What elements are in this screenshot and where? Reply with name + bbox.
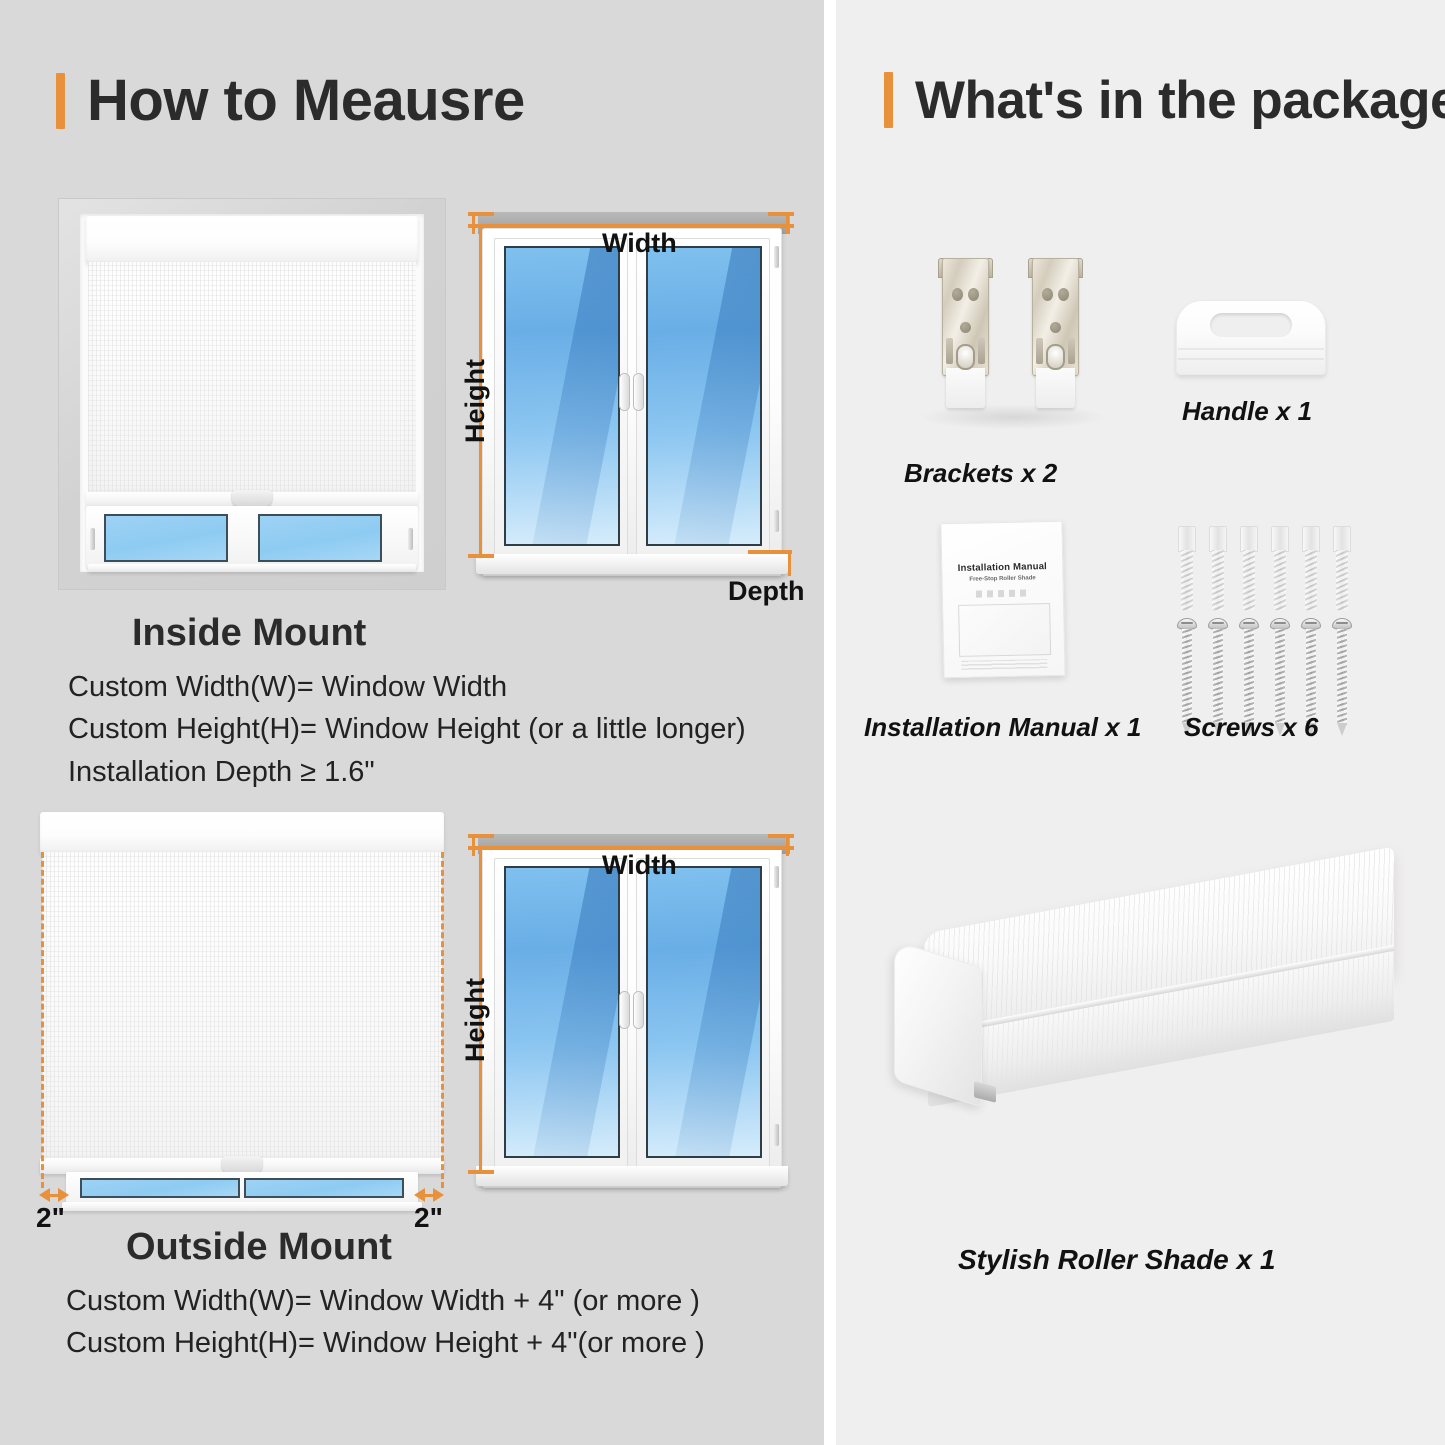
roller-shade-label: Stylish Roller Shade x 1 xyxy=(958,1244,1275,1276)
infographic-page: How to Meausre xyxy=(0,0,1445,1445)
outside-shade-pull-tab xyxy=(222,1156,262,1173)
window-glass-right xyxy=(646,246,762,546)
handle-ridge xyxy=(1178,348,1324,350)
screw-icon xyxy=(1332,618,1352,736)
roller-shade-end-cap xyxy=(894,941,982,1108)
height-label: Height xyxy=(460,359,491,443)
bracket-keyhole xyxy=(1046,344,1065,370)
screw-shank xyxy=(1182,629,1192,725)
screw-shank xyxy=(1244,629,1254,725)
arrow-right-head xyxy=(58,1188,69,1202)
manual-cover-scribble xyxy=(976,589,1030,597)
width-dim-cap-right xyxy=(768,212,794,216)
window-sill xyxy=(476,1166,788,1186)
width-dim-tick-left xyxy=(472,834,475,856)
manual-cover-title: Installation Manual xyxy=(941,561,1063,575)
wall-anchor-icon xyxy=(1300,526,1322,612)
depth-label: Depth xyxy=(728,576,805,607)
inside-mount-shade-illustration xyxy=(58,198,446,590)
manual-cover-footer xyxy=(961,659,1047,670)
screw-slot xyxy=(1274,622,1286,624)
outside-glass-right xyxy=(244,1178,404,1198)
shade-fabric xyxy=(88,262,416,496)
screws-label: Screws x 6 xyxy=(1184,712,1318,743)
wall-anchor-icon xyxy=(1238,526,1260,612)
window-handle-left-icon xyxy=(620,992,629,1028)
window-glass-left xyxy=(504,246,620,546)
screw-shank xyxy=(1337,629,1347,725)
bracket-hole xyxy=(952,288,963,301)
height-dim-cap-bottom xyxy=(468,554,494,558)
outside-mount-shade-illustration: 2" 2" xyxy=(22,806,452,1216)
bracket-slot xyxy=(946,338,953,364)
window-handle-left-icon xyxy=(620,374,629,410)
anchor-shaft xyxy=(1274,550,1286,612)
overhang-guide-right xyxy=(441,852,444,1188)
window-sill-inside xyxy=(88,564,416,572)
package-heading: What's in the package xyxy=(884,72,1445,128)
depth-dim-cap xyxy=(748,550,792,554)
anchor-shaft xyxy=(1336,550,1348,612)
manual-label: Installation Manual x 1 xyxy=(864,712,1141,743)
inside-mount-measure-diagram: Width Height Depth xyxy=(452,198,824,598)
anchor-shaft xyxy=(1212,550,1224,612)
anchor-shaft xyxy=(1305,550,1317,612)
heading-text: What's in the package xyxy=(915,74,1445,127)
screw-shank xyxy=(1275,629,1285,725)
height-dim-cap-bottom xyxy=(468,1170,494,1174)
handle-label: Handle x 1 xyxy=(1182,396,1312,427)
screw-slot xyxy=(1243,622,1255,624)
overhang-arrow-left xyxy=(39,1188,69,1202)
bracket-hole xyxy=(1058,288,1069,301)
anchor-collar xyxy=(1271,526,1289,552)
screw-shank xyxy=(1306,629,1316,725)
bracket-tongue xyxy=(946,368,985,408)
accent-bar-icon xyxy=(56,73,65,129)
bracket-tongue xyxy=(1036,368,1075,408)
outside-mount-text: Custom Width(W)= Window Width + 4" (or m… xyxy=(66,1284,705,1369)
window-hinge-left-icon xyxy=(90,528,95,550)
depth-dim-tick xyxy=(788,550,791,576)
outside-mount-line-2: Custom Height(H)= Window Height + 4"(or … xyxy=(66,1326,705,1361)
wall-anchor-icon xyxy=(1269,526,1291,612)
width-label: Width xyxy=(602,850,677,881)
width-dim-cap-right xyxy=(768,834,794,838)
height-label: Height xyxy=(460,978,491,1062)
screw-shank xyxy=(1213,629,1223,725)
outside-shade-valance xyxy=(40,812,444,854)
how-to-measure-heading: How to Meausre xyxy=(56,72,525,130)
outside-window-sill xyxy=(62,1202,422,1211)
shade-valance xyxy=(86,216,418,264)
how-to-measure-panel: How to Meausre xyxy=(0,0,824,1445)
screw-slot xyxy=(1181,622,1193,624)
wall-anchor-icon xyxy=(1207,526,1229,612)
bracket-slot xyxy=(1068,338,1075,364)
manual-icon: Installation Manual Free-Stop Roller Sha… xyxy=(940,521,1065,679)
screw-slot xyxy=(1212,622,1224,624)
window-sill xyxy=(476,554,788,574)
wall-anchor-icon xyxy=(1176,526,1198,612)
bracket-icon xyxy=(938,258,993,408)
heading-text: How to Meausre xyxy=(87,72,525,130)
inside-mount-line-3: Installation Depth ≥ 1.6" xyxy=(68,755,746,790)
anchor-collar xyxy=(1209,526,1227,552)
window-handle-right-icon xyxy=(634,992,643,1028)
bracket-keyhole xyxy=(956,344,975,370)
bracket-hole xyxy=(1050,322,1061,333)
bracket-hole xyxy=(968,288,979,301)
screw-slot xyxy=(1336,622,1348,624)
bracket-hole xyxy=(1042,288,1053,301)
anchor-shaft xyxy=(1181,550,1193,612)
outside-mount-measure-diagram: Width Height xyxy=(452,822,824,1214)
bracket-slot xyxy=(978,338,985,364)
anchor-collar xyxy=(1178,526,1196,552)
outside-mount-line-1: Custom Width(W)= Window Width + 4" (or m… xyxy=(66,1284,705,1319)
outside-shade-fabric xyxy=(42,852,442,1162)
window-handle-right-icon xyxy=(634,374,643,410)
window-hinge-top-icon xyxy=(774,246,779,268)
arrow-right-head xyxy=(433,1188,444,1202)
handle-icon xyxy=(1176,300,1326,375)
handle-cutout xyxy=(1210,313,1292,337)
anchor-collar xyxy=(1240,526,1258,552)
screw-tip xyxy=(1337,723,1347,736)
anchor-collar xyxy=(1302,526,1320,552)
inside-mount-line-2: Custom Height(H)= Window Height (or a li… xyxy=(68,712,746,747)
inside-mount-title: Inside Mount xyxy=(132,612,366,655)
width-dim-tick-right xyxy=(786,212,789,234)
accent-bar-icon xyxy=(884,72,893,128)
manual-cover-subtitle: Free-Stop Roller Shade xyxy=(942,575,1064,584)
window-hinge-top-icon xyxy=(774,866,779,888)
anchor-collar xyxy=(1333,526,1351,552)
anchor-shaft xyxy=(1243,550,1255,612)
width-dim-tick-left xyxy=(472,212,475,234)
shade-pull-tab xyxy=(232,490,272,506)
window-hinge-bottom-icon xyxy=(774,1124,779,1146)
glass-pane-right xyxy=(258,514,382,562)
wall-anchor-icon xyxy=(1331,526,1353,612)
package-contents-panel: What's in the package xyxy=(836,0,1445,1445)
bracket-hole xyxy=(960,322,971,333)
bracket-slot xyxy=(1036,338,1043,364)
width-label: Width xyxy=(602,228,677,259)
window-glass-right xyxy=(646,866,762,1158)
manual-cover-diagram xyxy=(958,603,1051,657)
overhang-guide-left xyxy=(41,852,44,1188)
glass-pane-left xyxy=(104,514,228,562)
window-glass-left xyxy=(504,866,620,1158)
inside-mount-line-1: Custom Width(W)= Window Width xyxy=(68,670,746,705)
overhang-arrow-right xyxy=(414,1188,444,1202)
bracket-icon xyxy=(1028,258,1083,408)
inside-mount-text: Custom Width(W)= Window Width Custom Hei… xyxy=(68,670,746,797)
window-hinge-bottom-icon xyxy=(774,510,779,532)
roller-shade-icon xyxy=(894,868,1394,1198)
outside-glass-left xyxy=(80,1178,240,1198)
overhang-label-right: 2" xyxy=(414,1202,443,1234)
window-hinge-right-icon xyxy=(408,528,413,550)
width-dim-tick-right xyxy=(786,834,789,856)
overhang-label-left: 2" xyxy=(36,1202,65,1234)
panel-divider xyxy=(824,0,836,1445)
screw-slot xyxy=(1305,622,1317,624)
outside-mount-title: Outside Mount xyxy=(126,1226,392,1269)
brackets-label: Brackets x 2 xyxy=(904,458,1057,489)
handle-ridge xyxy=(1178,358,1324,360)
